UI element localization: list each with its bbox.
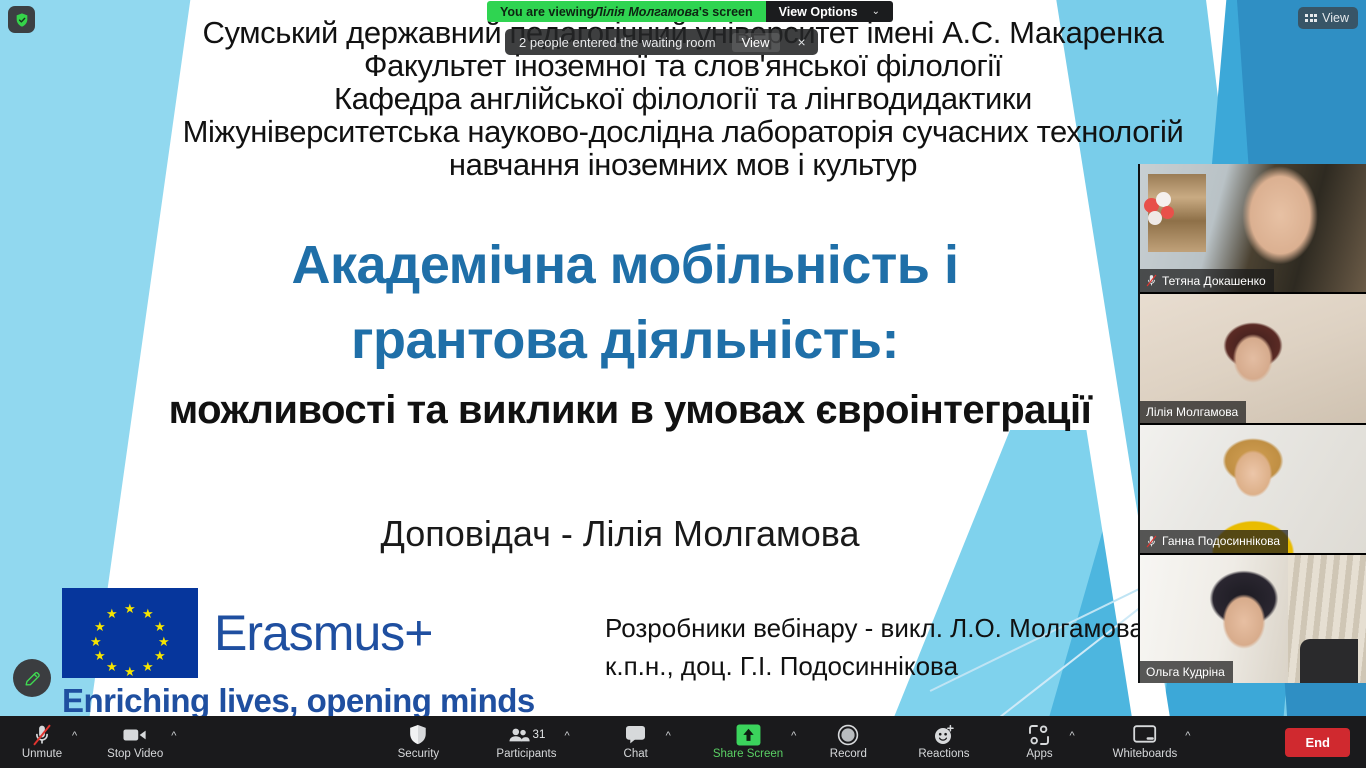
toolbar-chat-button[interactable]: Chat [608,716,664,768]
people-icon: 31 [508,724,546,746]
slide-title-line-2: грантова діяльність: [0,303,1250,378]
toolbar-reactions-button[interactable]: Reactions [912,716,975,768]
toolbar-unmute-button[interactable]: Unmute [14,716,70,768]
video-tile-2-namebar: Лілія Молгамова [1140,401,1246,423]
toolbar-participants-button[interactable]: 31 Participants [490,716,562,768]
chat-bubble-icon [625,724,646,746]
toolbar-apps-button[interactable]: Apps [1011,716,1067,768]
slide-authors-line-1: Розробники вебінару - викл. Л.О. Молгамо… [605,610,1151,648]
zoom-meeting-window: Сумський державний педагогічний універси… [0,0,1366,768]
viewing-screen-text: You are viewing Лілія Молгамова 's scree… [487,1,766,22]
video-tile-3-namebar: Ганна Подосиннікова [1140,530,1288,553]
toolbar-apps-label: Apps [1026,749,1052,761]
meeting-toolbar: Unmute ^ Stop Video ^ Security [0,716,1366,768]
close-icon[interactable]: × [796,34,806,50]
share-screen-icon [736,724,761,746]
slide-title: Академічна мобільність і грантова діяльн… [0,228,1250,377]
view-layout-button[interactable]: View [1298,7,1358,29]
grid-view-icon [1305,14,1317,22]
video-tile-3-name: Ганна Подосиннікова [1162,535,1280,547]
participants-count-badge: 31 [533,729,546,741]
erasmus-logo: ★ ★ ★ ★ ★ ★ ★ ★ ★ ★ ★ ★ Erasmus+ [62,588,535,716]
chevron-up-icon-audio[interactable]: ^ [70,730,79,742]
chevron-up-icon-whiteboards[interactable]: ^ [1183,730,1192,742]
toolbar-chat-label: Chat [624,749,648,761]
video-tile-2[interactable]: Лілія Молгамова [1140,294,1366,424]
whiteboard-icon [1133,724,1157,746]
toolbar-participants-label: Participants [496,749,556,761]
video-tile-1-namebar: Тетяна Докашенко [1140,269,1274,292]
slide-authors-line-2: к.п.н., доц. Г.І. Подосиннікова [605,648,1151,686]
eu-flag-icon: ★ ★ ★ ★ ★ ★ ★ ★ ★ ★ ★ ★ [62,588,198,678]
pencil-icon[interactable] [13,659,51,697]
mic-muted-icon [1146,535,1157,548]
toolbar-security-label: Security [398,749,440,761]
video-tile-2-name: Лілія Молгамова [1146,406,1238,418]
video-tile-4-namebar: Ольга Кудріна [1140,661,1233,683]
view-options-label: View Options [779,5,858,19]
video-tile-4[interactable]: Ольга Кудріна [1140,555,1366,683]
reactions-icon [933,724,955,746]
toolbar-stop-video-label: Stop Video [107,749,163,761]
participant-filmstrip[interactable]: Тетяна Докашенко Лілія Молгамова Ганна П… [1138,164,1366,683]
view-layout-label: View [1322,11,1349,25]
toolbar-share-screen-label: Share Screen [713,749,783,761]
video-camera-icon [123,724,147,746]
waiting-room-message: 2 people entered the waiting room [519,35,716,50]
apps-icon [1028,724,1050,746]
slide-header-line-4: Міжуніверситетська науково-дослідна лабо… [0,115,1366,148]
chevron-up-icon-video[interactable]: ^ [169,730,178,742]
toolbar-stop-video-button[interactable]: Stop Video [101,716,169,768]
chevron-up-icon-apps[interactable]: ^ [1067,730,1076,742]
video-tile-3[interactable]: Ганна Подосиннікова [1140,425,1366,555]
shield-icon [409,724,427,746]
viewing-suffix: 's screen [699,5,753,19]
erasmus-wordmark: Erasmus+ [214,604,432,662]
mic-muted-icon [32,724,52,746]
toolbar-record-label: Record [830,749,867,761]
record-icon [837,724,859,746]
chevron-down-icon: ⌄ [872,6,880,17]
slide-header-line-3: Кафедра англійської філології та лінгвод… [0,82,1366,115]
view-options-button[interactable]: View Options ⌄ [766,1,893,22]
toolbar-share-screen-button[interactable]: Share Screen [707,716,789,768]
toolbar-security-button[interactable]: Security [390,716,446,768]
waiting-room-view-button[interactable]: View [732,33,780,52]
video-tile-1-name: Тетяна Докашенко [1162,275,1266,287]
toolbar-whiteboards-label: Whiteboards [1113,749,1178,761]
waiting-room-toast: 2 people entered the waiting room View × [505,29,818,55]
toolbar-reactions-label: Reactions [918,749,969,761]
toolbar-unmute-label: Unmute [22,749,62,761]
viewing-prefix: You are viewing [500,5,594,19]
chevron-up-icon-chat[interactable]: ^ [664,730,673,742]
slide-subtitle: можливості та виклики в умовах євроінтег… [0,388,1260,433]
mic-muted-icon [1146,274,1157,287]
chevron-up-icon-participants[interactable]: ^ [563,730,572,742]
slide-title-line-1: Академічна мобільність і [0,228,1250,303]
viewing-presenter-name: Лілія Молгамова [594,5,699,19]
chevron-up-icon-share[interactable]: ^ [789,730,798,742]
viewing-screen-banner: You are viewing Лілія Молгамова 's scree… [487,1,893,22]
toolbar-whiteboards-button[interactable]: Whiteboards [1107,716,1184,768]
erasmus-tagline: Enriching lives, opening minds [62,682,535,716]
slide-speaker: Доповідач - Лілія Молгамова [0,513,1240,555]
video-tile-1[interactable]: Тетяна Докашенко [1140,164,1366,294]
shield-check-icon[interactable] [8,6,35,33]
slide-authors: Розробники вебінару - викл. Л.О. Молгамо… [605,610,1151,685]
end-meeting-button[interactable]: End [1285,728,1350,757]
toolbar-record-button[interactable]: Record [820,716,876,768]
video-tile-4-name: Ольга Кудріна [1146,666,1225,678]
